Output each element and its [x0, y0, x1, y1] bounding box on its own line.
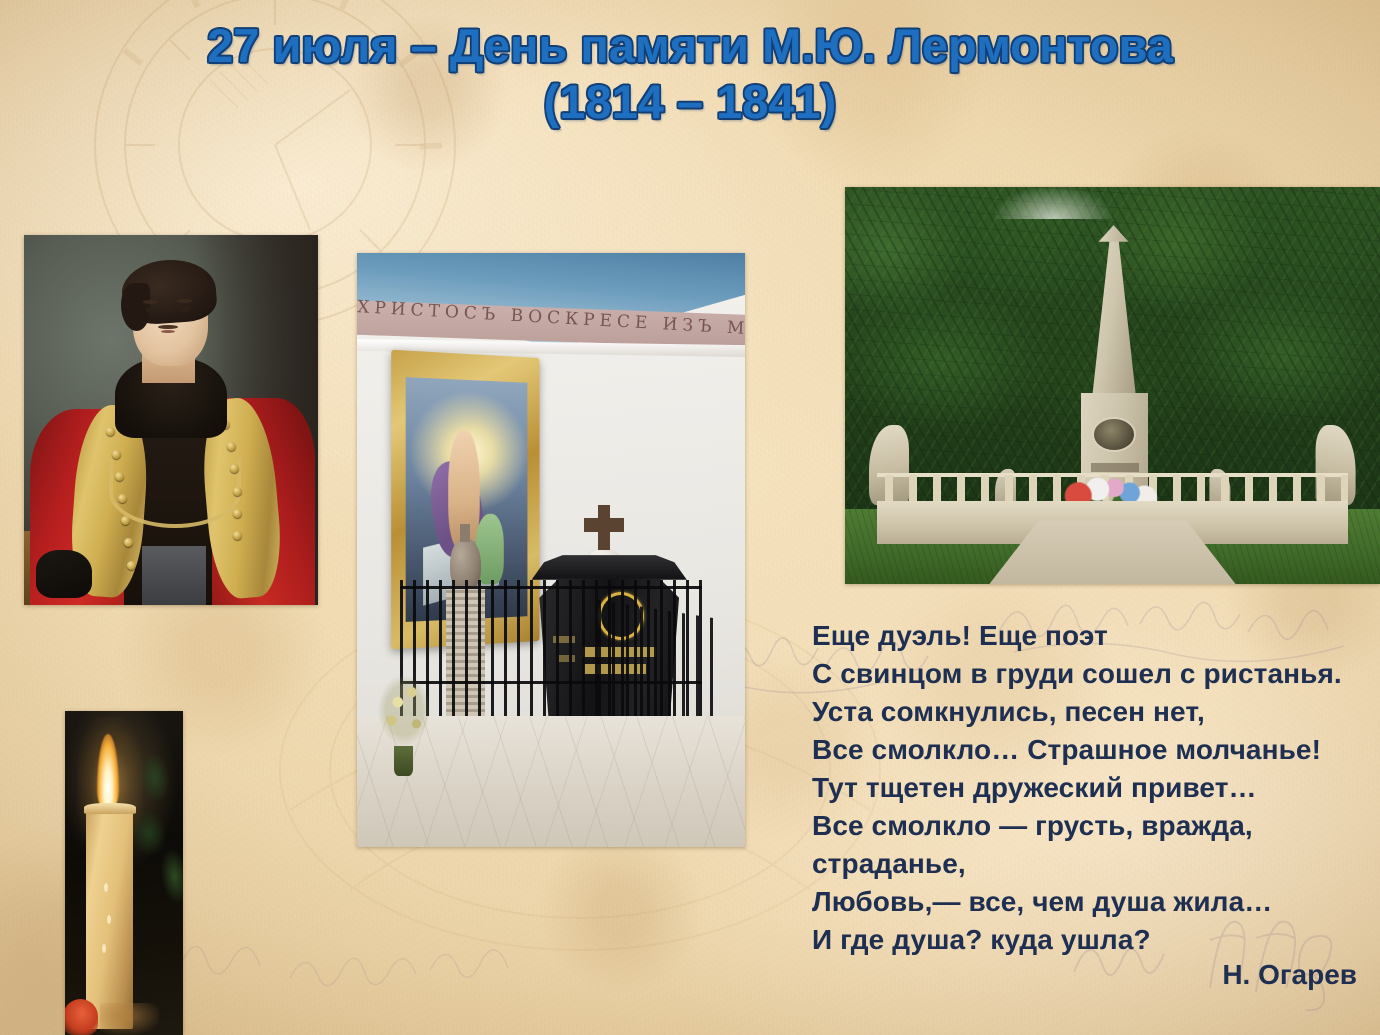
portrait-button	[115, 472, 124, 481]
title-line-1: 27 июля – День памяти М.Ю. Лермонтова	[207, 19, 1173, 72]
portrait-of-lermontov-image	[24, 235, 318, 605]
second-monument-stem	[460, 524, 469, 542]
poem-line: И где душа? куда ушла?	[812, 921, 1372, 959]
portrait-button	[233, 487, 242, 496]
altar-cross-horizontal	[584, 518, 624, 532]
portrait-button	[233, 509, 242, 518]
portrait-button	[227, 442, 236, 451]
portrait-hand	[36, 550, 92, 598]
obelisk-sky-gap	[995, 187, 1113, 219]
candle-melted-top	[84, 803, 136, 814]
portrait-trousers	[142, 546, 207, 605]
portrait-button	[127, 561, 136, 570]
portrait-eyebrow	[143, 300, 158, 304]
portrait-moustache	[158, 325, 179, 329]
portrait-eyebrow	[177, 299, 192, 303]
lermontov-family-chapel-tomb-image: ХРИСТОСЪ ВОСКРЕСЕ ИЗЪ МЕ- РТВЫХЪ	[357, 253, 745, 847]
red-flower	[65, 999, 98, 1035]
flower-vase	[394, 746, 413, 776]
portrait-button	[233, 531, 242, 540]
poem-line: страданье,	[812, 845, 1372, 883]
memorial-candle-image	[65, 711, 183, 1035]
poem-line: Все смолкло — грусть, вражда,	[812, 807, 1372, 845]
candle-wax-drip	[102, 944, 106, 953]
poem-line: Уста сомкнулись, песен нет,	[812, 693, 1372, 731]
duel-site-monument-image	[845, 187, 1380, 584]
poem-text: Еще дуэль! Еще поэт С свинцом в груди со…	[812, 617, 1372, 959]
portrait-sideburn	[121, 283, 150, 331]
poem-line: С свинцом в груди сошел с ристанья.	[812, 655, 1372, 693]
portrait-button	[112, 450, 121, 459]
obelisk-plaque	[1091, 463, 1139, 472]
candle-base-glow	[100, 1003, 159, 1035]
poem-line: Тут тщетен дружеский привет…	[812, 769, 1372, 807]
poem-line: Любовь,— все, чем душа жила…	[812, 883, 1372, 921]
portrait-button	[118, 494, 127, 503]
portrait-eye	[146, 307, 156, 313]
title-line-2: (1814 – 1841)	[544, 75, 837, 128]
presentation-slide: 27 июля – День памяти М.Ю. Лермонтова(18…	[0, 0, 1380, 1035]
page-title: 27 июля – День памяти М.Ю. Лермонтова(18…	[0, 18, 1380, 130]
poem-line: Еще дуэль! Еще поэт	[812, 617, 1372, 655]
poem-line: Все смолкло… Страшное молчанье!	[812, 731, 1372, 769]
poem-author: Н. Огарев	[812, 959, 1357, 991]
candle-wax-drip	[104, 883, 108, 892]
dried-flower-bouquet	[373, 669, 435, 752]
fence-rail	[400, 586, 703, 589]
